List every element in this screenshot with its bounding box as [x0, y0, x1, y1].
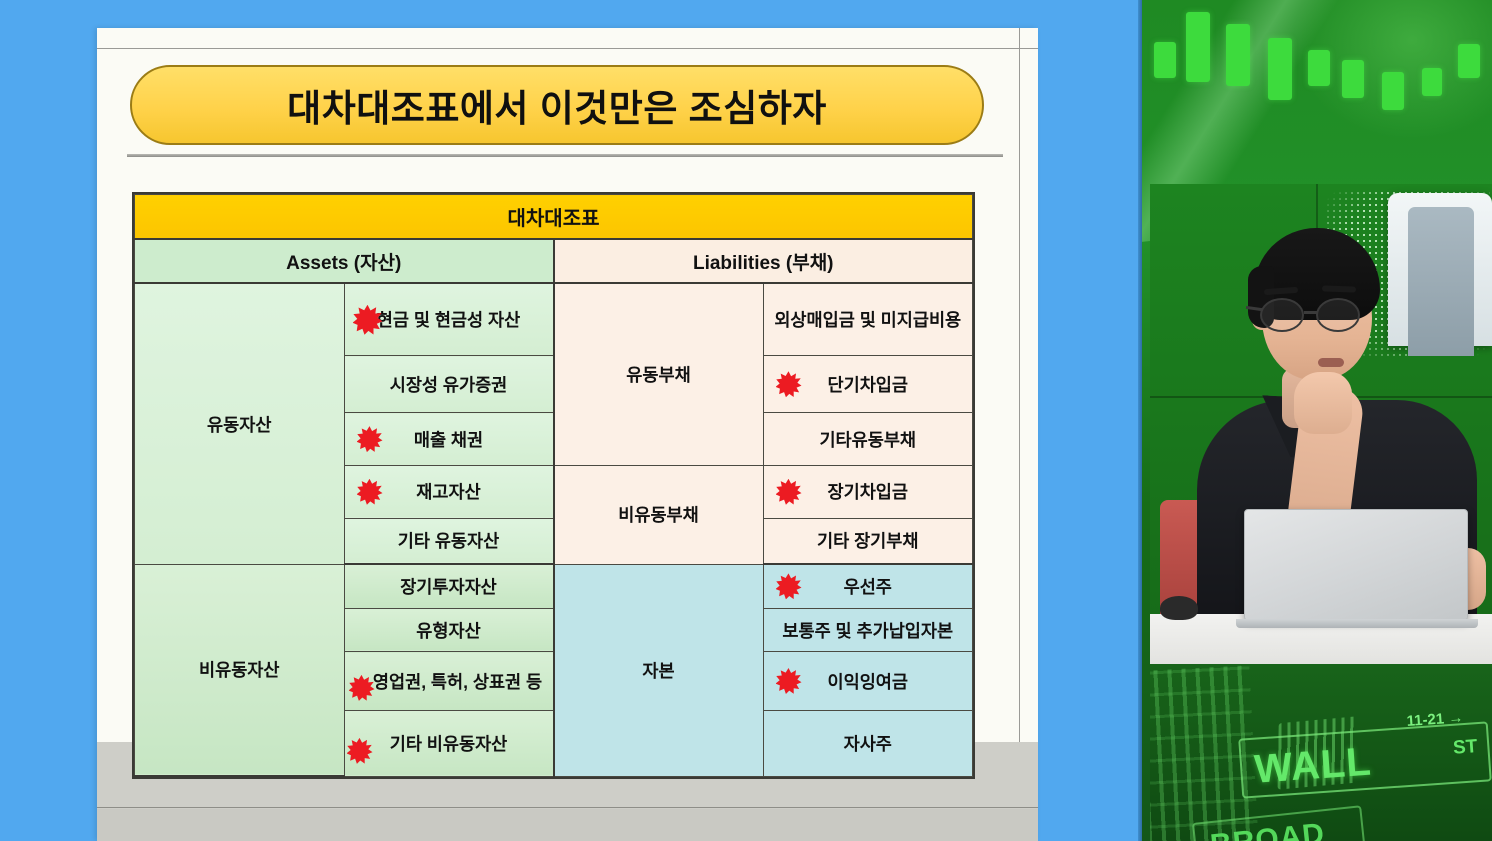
street-number: 11-21 → — [1406, 709, 1464, 730]
candle-bar — [1458, 44, 1480, 78]
asset-item-intangible: 영업권, 특허, 상표권 등 — [344, 652, 554, 710]
liability-item-other-long-term: 기타 장기부채 — [763, 518, 973, 564]
candle-bar — [1226, 24, 1250, 86]
group-noncurrent-assets: 비유동자산 — [135, 564, 345, 776]
red-burst-ring-icon — [776, 371, 802, 397]
candle-bar — [1422, 68, 1442, 96]
mouse-device — [1160, 596, 1198, 620]
group-noncurrent-liabilities: 비유동부채 — [554, 465, 764, 564]
table-row: 유동자산 현금 및 현금성 자산 유동부채 외상매입금 및 미지급비용 — [135, 283, 973, 355]
candle-bar — [1186, 12, 1210, 82]
slide-title-pill: 대차대조표에서 이것만은 조심하자 — [130, 65, 984, 145]
asset-item-label: 현금 및 현금성 자산 — [377, 310, 520, 330]
candle-bar — [1308, 50, 1330, 86]
asset-item-receivables: 매출 채권 — [344, 413, 554, 466]
liability-item-label: 외상매입금 및 미지급비용 — [774, 310, 961, 330]
asset-item-inventory: 재고자산 — [344, 465, 554, 518]
page-rule-top — [97, 48, 1038, 49]
person-eyebrow — [1322, 285, 1356, 292]
liability-item-long-term-debt: 장기차입금 — [763, 465, 973, 518]
table-row: 비유동자산 장기투자자산 자본 우선주 — [135, 564, 973, 608]
table-caption-row: 대차대조표 — [135, 195, 973, 240]
asset-item-other-current: 기타 유동자산 — [344, 518, 554, 564]
candle-bar — [1342, 60, 1364, 98]
liability-item-label: 보통주 및 추가납입자본 — [782, 621, 953, 641]
red-burst-icon — [347, 738, 373, 764]
red-burst-icon — [357, 479, 383, 505]
street-name: WALL — [1253, 740, 1373, 793]
asset-item-cash: 현금 및 현금성 자산 — [344, 283, 554, 355]
liability-item-other-current: 기타유동부채 — [763, 413, 973, 466]
asset-item-securities: 시장성 유가증권 — [344, 356, 554, 413]
liability-item-label: 우선주 — [844, 577, 892, 597]
equity-item-retained-earnings: 이익잉여금 — [763, 652, 973, 710]
liability-item-short-term-debt: 단기차입금 — [763, 356, 973, 413]
candle-bar — [1154, 42, 1176, 78]
liability-item-label: 장기차입금 — [828, 482, 909, 502]
table-caption: 대차대조표 — [135, 195, 973, 240]
person-mouth — [1318, 358, 1344, 367]
candlestick-graphic — [1142, 6, 1492, 126]
header-assets: Assets (자산) — [135, 239, 554, 283]
screen: 대차대조표에서 이것만은 조심하자 대차대조표 Assets (자산) Liab… — [0, 0, 1492, 841]
balance-sheet-table: 대차대조표 Assets (자산) Liabilities (부채) 유동자산 — [132, 192, 975, 779]
webcam-panel: 11-21 → WALL ST BROAD — [1142, 0, 1492, 841]
liability-item-label: 자사주 — [844, 734, 892, 754]
group-current-assets: 유동자산 — [135, 283, 345, 564]
liability-item-label: 기타유동부채 — [819, 430, 916, 450]
street-name-secondary: BROAD — [1209, 817, 1327, 841]
group-equity: 자본 — [554, 564, 764, 776]
slide-share-region: 대차대조표에서 이것만은 조심하자 대차대조표 Assets (자산) Liab… — [0, 0, 1142, 841]
asset-item-label: 영업권, 특허, 상표권 등 — [355, 672, 542, 692]
liability-item-label: 이익잉여금 — [828, 672, 909, 692]
page-rule-right — [1019, 28, 1020, 841]
red-burst-icon — [776, 479, 802, 505]
wall-street-backdrop: 11-21 → WALL ST BROAD — [1150, 664, 1492, 841]
page-title: 대차대조표에서 이것만은 조심하자 — [287, 78, 827, 132]
candle-bar — [1268, 38, 1292, 100]
liability-item-label: 단기차입금 — [828, 375, 909, 395]
laptop — [1244, 509, 1468, 621]
slide-page: 대차대조표에서 이것만은 조심하자 대차대조표 Assets (자산) Liab… — [97, 28, 1038, 841]
asset-item-label: 장기투자자산 — [400, 577, 497, 597]
asset-item-other-noncurrent: 기타 비유동자산 — [344, 710, 554, 776]
group-current-liabilities: 유동부채 — [554, 283, 764, 465]
asset-item-label: 시장성 유가증권 — [390, 375, 508, 395]
asset-item-tangible: 유형자산 — [344, 608, 554, 652]
liability-item-label: 기타 장기부채 — [817, 531, 918, 551]
eyeglasses — [1260, 298, 1378, 332]
candle-bar — [1382, 72, 1404, 110]
asset-item-label: 기타 유동자산 — [398, 531, 499, 551]
glasses-bridge — [1304, 311, 1318, 314]
laptop-base — [1236, 619, 1478, 628]
asset-item-long-term-investments: 장기투자자산 — [344, 564, 554, 608]
equity-item-treasury-stock: 자사주 — [763, 710, 973, 776]
title-divider — [127, 154, 1003, 157]
liability-item-payables: 외상매입금 및 미지급비용 — [763, 283, 973, 355]
red-burst-icon — [357, 426, 383, 452]
wall-street-sign: 11-21 → WALL ST — [1238, 721, 1492, 798]
person-hand — [1294, 372, 1352, 434]
red-burst-icon — [776, 573, 802, 599]
phone-screen — [1408, 207, 1474, 356]
asset-item-label: 재고자산 — [416, 482, 480, 502]
page-rule-bottom — [97, 807, 1038, 808]
asset-item-label: 매출 채권 — [414, 430, 483, 450]
table-header-row: Assets (자산) Liabilities (부채) — [135, 239, 973, 283]
glasses-lens — [1316, 298, 1360, 332]
asset-item-label: 기타 비유동자산 — [390, 734, 508, 754]
page-footer-band-lower — [97, 809, 1038, 841]
header-liabilities: Liabilities (부채) — [554, 239, 973, 283]
phone-graphic — [1388, 193, 1492, 346]
red-burst-icon — [776, 668, 802, 694]
asset-item-label: 유형자산 — [416, 621, 480, 641]
equity-item-preferred-stock: 우선주 — [763, 564, 973, 608]
glasses-lens — [1260, 298, 1304, 332]
street-suffix: ST — [1452, 736, 1478, 760]
equity-item-common-stock: 보통주 및 추가납입자본 — [763, 608, 973, 652]
